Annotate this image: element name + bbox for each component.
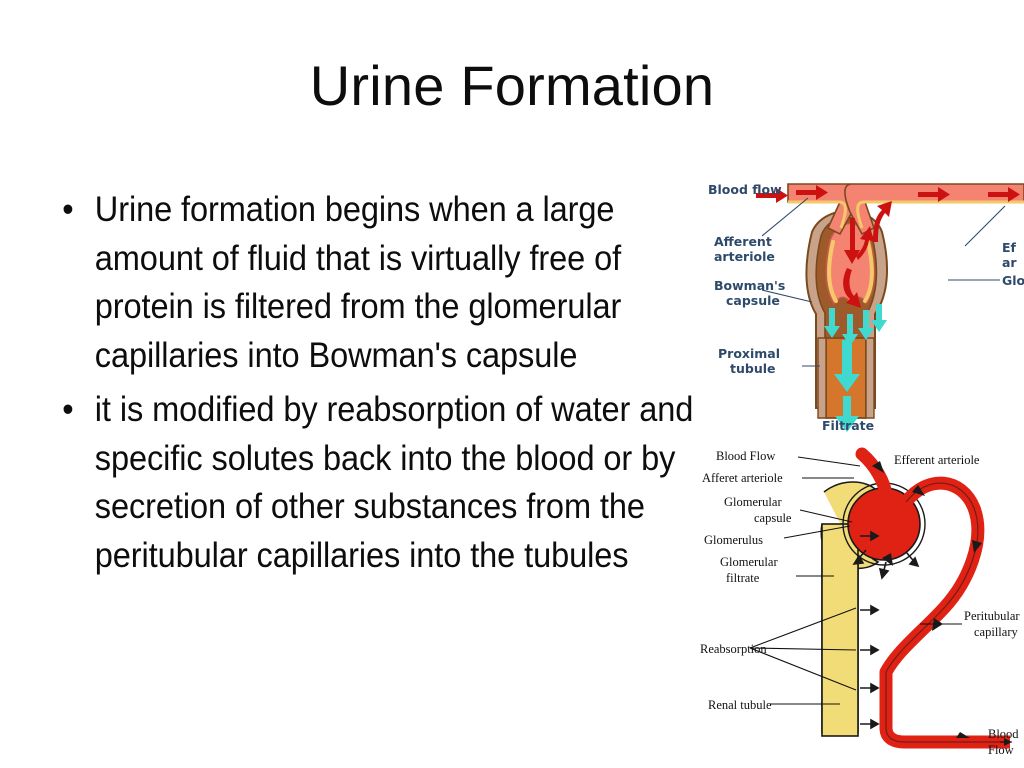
label-afferet-arteriole: Afferet arteriole xyxy=(702,471,783,485)
list-item: • Urine formation begins when a large am… xyxy=(52,186,694,380)
leader-line-afferent xyxy=(762,198,808,236)
tubule-reabsorption-diagram: Blood Flow Afferet arteriole Glomerular … xyxy=(700,432,1024,768)
label-glomerulus: Glomerulus xyxy=(704,533,763,547)
list-item: • it is modified by reabsorption of wate… xyxy=(52,386,694,580)
label-efferent-arteriole: Efferent arteriole xyxy=(894,453,980,467)
body-text-block: • Urine formation begins when a large am… xyxy=(52,186,742,586)
label-glomerulus-clipped: Glo xyxy=(1002,273,1024,288)
label-filtrate: Filtrate xyxy=(822,418,874,433)
label-efferent-clipped-line1: Ef xyxy=(1002,240,1017,255)
label-afferent-line1: Afferent xyxy=(714,234,772,249)
leader-line-blood-flow-top xyxy=(798,457,860,466)
label-peritubular-line1: Peritubular xyxy=(964,609,1020,623)
nephron-filtration-diagram: Blood flow Afferent arteriole Bowman's c… xyxy=(700,168,1024,436)
label-glomerular-capsule-line2: capsule xyxy=(754,511,792,525)
label-glomerular-filtrate-line2: filtrate xyxy=(726,571,760,585)
proximal-tubule-right-wall xyxy=(866,338,874,418)
label-bowmans-line2: capsule xyxy=(726,293,780,308)
label-proximal-line1: Proximal xyxy=(718,346,780,361)
label-blood-flow: Blood flow xyxy=(708,182,782,197)
label-peritubular-line2: capillary xyxy=(974,625,1018,639)
slide-canvas: Urine Formation • Urine formation begins… xyxy=(0,0,1024,768)
bullet-marker: • xyxy=(62,186,73,235)
bullet-marker: • xyxy=(62,386,73,435)
label-blood-flow-top: Blood Flow xyxy=(716,449,775,463)
label-glomerular-filtrate-line1: Glomerular xyxy=(720,555,778,569)
label-reabsorption: Reabsorption xyxy=(700,642,767,656)
label-bowmans-line1: Bowman's xyxy=(714,278,785,293)
label-renal-tubule: Renal tubule xyxy=(708,698,772,712)
label-blood-flow-bottom-line1: Blood xyxy=(988,727,1019,741)
proximal-tubule-left-wall xyxy=(818,338,826,418)
label-afferent-line2: arteriole xyxy=(714,249,775,264)
leader-line-efferent xyxy=(965,206,1005,246)
list-item-text: Urine formation begins when a large amou… xyxy=(95,190,621,375)
label-blood-flow-bottom-line2: Flow xyxy=(988,743,1014,757)
page-title: Urine Formation xyxy=(0,58,1024,114)
label-efferent-clipped-line2: ar xyxy=(1002,255,1017,270)
efferent-arteriole-shape xyxy=(845,184,1024,234)
nephron-diagram-svg: Blood flow Afferent arteriole Bowman's c… xyxy=(700,168,1024,436)
label-glomerular-capsule-line1: Glomerular xyxy=(724,495,782,509)
tubule-diagram-svg: Blood Flow Afferet arteriole Glomerular … xyxy=(700,432,1024,768)
label-proximal-line2: tubule xyxy=(730,361,775,376)
list-item-text: it is modified by reabsorption of water … xyxy=(95,390,693,575)
